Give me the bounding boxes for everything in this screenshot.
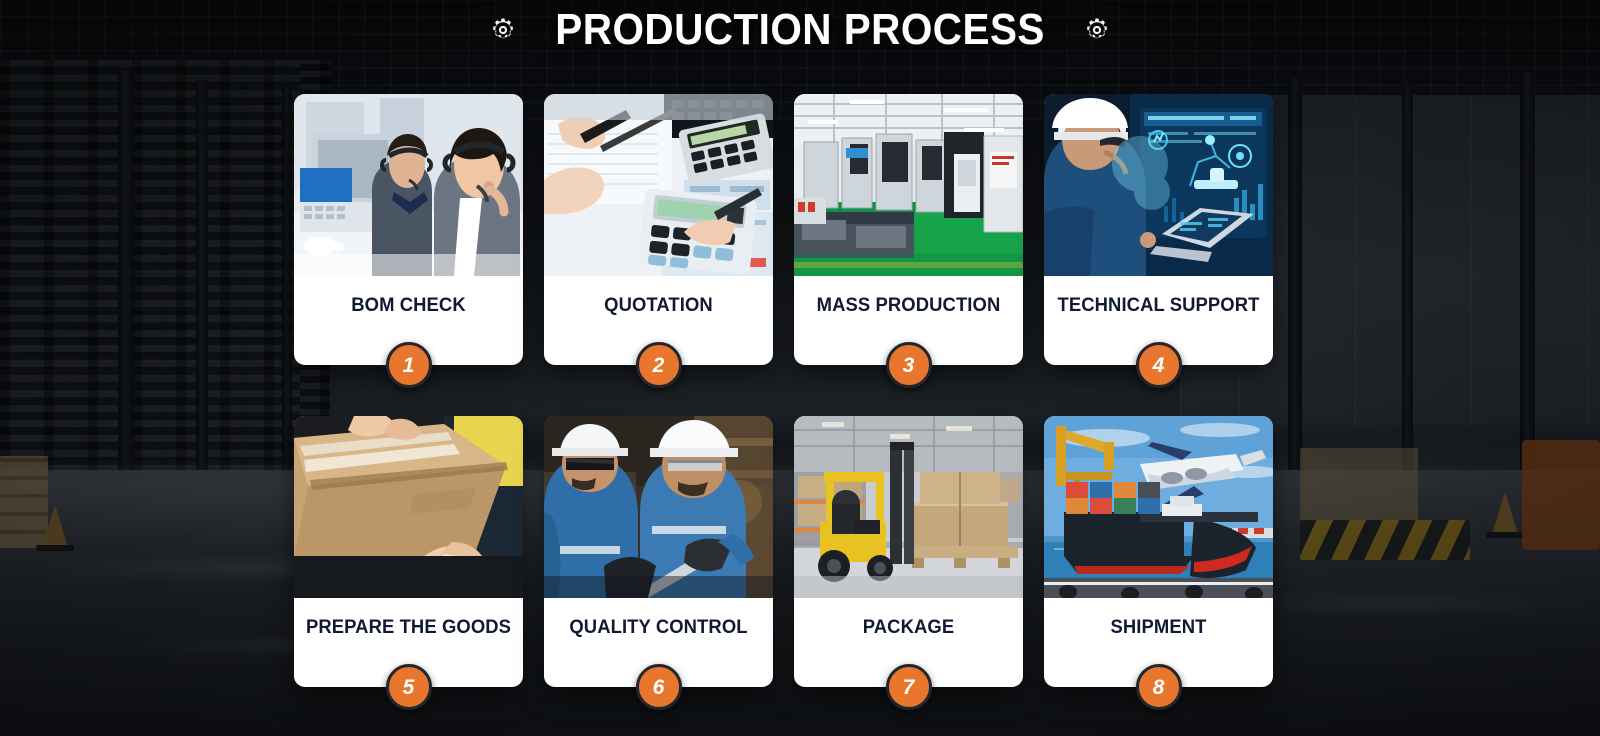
process-card[interactable]: QUALITY CONTROL 6 (544, 416, 773, 687)
process-card[interactable]: PREPARE THE GOODS 5 (294, 416, 523, 687)
inspectors-hardhats-photo (544, 416, 773, 598)
step-badge: 5 (386, 664, 432, 710)
process-card[interactable]: MASS PRODUCTION 3 (794, 94, 1023, 365)
production-process-infographic: PRODUCTION PROCESS (0, 0, 1600, 736)
step-badge: 7 (886, 664, 932, 710)
process-card[interactable]: BOM CHECK 1 (294, 94, 523, 365)
gear-icon (490, 17, 516, 43)
taping-carton-box-photo (294, 416, 523, 598)
step-badge: 2 (636, 342, 682, 388)
engineer-hud-laptop-photo (1044, 94, 1273, 276)
calculator-paperwork-photo (544, 94, 773, 276)
call-center-agents-photo (294, 94, 523, 276)
gear-icon (1084, 17, 1110, 43)
step-badge: 6 (636, 664, 682, 710)
cargo-ship-plane-photo (1044, 416, 1273, 598)
process-card[interactable]: TECHNICAL SUPPORT 4 (1044, 94, 1273, 365)
step-badge: 3 (886, 342, 932, 388)
process-card-grid: BOM CHECK 1 (294, 94, 1274, 687)
forklift-pallet-boxes-photo (794, 416, 1023, 598)
process-card[interactable]: QUOTATION 2 (544, 94, 773, 365)
factory-machines-photo (794, 94, 1023, 276)
step-badge: 8 (1136, 664, 1182, 710)
process-card[interactable]: PACKAGE 7 (794, 416, 1023, 687)
step-badge: 1 (386, 342, 432, 388)
page-title: PRODUCTION PROCESS (555, 8, 1045, 52)
step-badge: 4 (1136, 342, 1182, 388)
header: PRODUCTION PROCESS (0, 8, 1600, 52)
process-card[interactable]: SHIPMENT 8 (1044, 416, 1273, 687)
